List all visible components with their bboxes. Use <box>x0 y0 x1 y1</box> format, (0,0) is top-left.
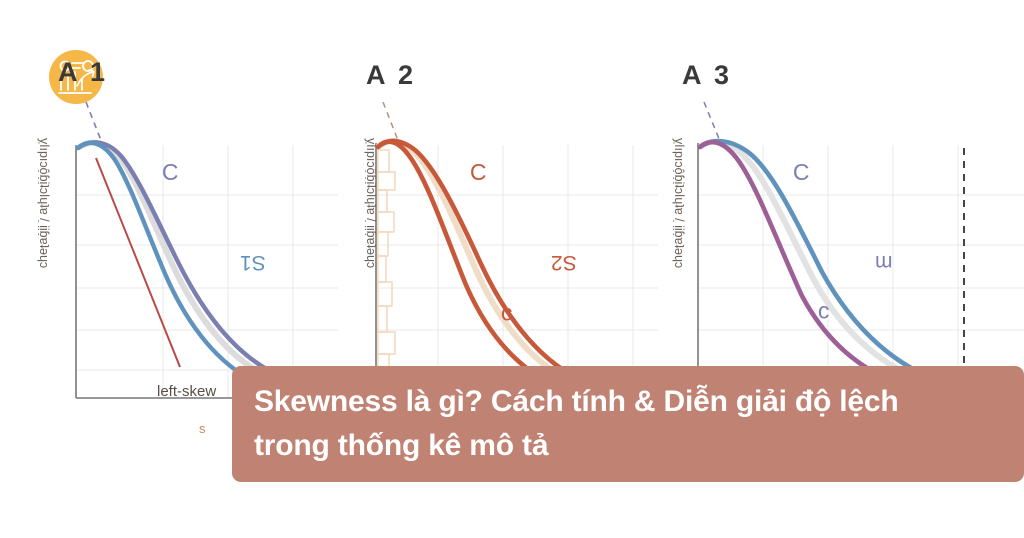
gray-density-curve <box>78 143 338 397</box>
axis-lines <box>76 145 338 398</box>
title-banner: Skewness là gì? Cách tính & Diễn giải độ… <box>232 366 1024 482</box>
annotation-mean-a3: Ɔ <box>793 158 810 185</box>
panel-label-a1: A 1 <box>58 57 108 88</box>
purple-density-curve <box>700 142 1024 398</box>
panel-label-a2: A 2 <box>366 60 416 91</box>
annotation-mean-a1: Ɔ <box>162 158 179 185</box>
annotation-median-a2: ɔ <box>501 302 513 329</box>
blue-density-curve <box>78 143 338 400</box>
x-axis-label-a1: left-skew <box>157 383 216 400</box>
y-axis-label-a2: ỵǀıpıɔộɓ̣ịʇɔǀɥʇɐ / ̣ịịɓ̣ɐʇǝɥɔ <box>364 138 378 268</box>
annotation-s1-a1: S1 <box>240 250 266 274</box>
y-axis-label-a1: ỵǀıpıɔộɓ̣ịʇɔǀɥʇɐ / ̣ịịɓ̣ɐʇǝɥɔ <box>37 138 51 268</box>
banner-title-line-1: Skewness là gì? Cách tính & Diễn giải độ… <box>254 380 1002 424</box>
axis-lines <box>698 143 1024 398</box>
annotation-s2-a2: S2 <box>551 250 577 274</box>
y-axis-label-a3: ỵǀıpıɔộɓ̣ịʇɔǀɥʇɐ / ̣ịịɓ̣ɐʇǝɥɔ <box>672 138 686 268</box>
purple-density-curve <box>78 142 338 396</box>
peach-histogram-bars <box>378 150 395 396</box>
infographic-canvas: A 1 ỵǀıpıɔộɓ̣ịʇɔǀɥʇɐ / ̣ịịɓ̣ɐʇǝɥɔ left-s… <box>0 0 1024 538</box>
annotation-mean-a2: Ɔ <box>470 158 487 185</box>
x-axis-sublabel-a1: s <box>199 421 206 436</box>
rust-density-curve-outer <box>378 142 658 400</box>
grid-lines <box>698 145 1024 398</box>
grid-lines <box>76 145 338 398</box>
annotation-m-a3: m <box>875 250 893 274</box>
banner-title-line-2: trong thống kê mô tả <box>254 424 1002 468</box>
annotation-median-a3: ɔ <box>818 300 830 327</box>
panel-label-a3: A 3 <box>682 60 732 91</box>
